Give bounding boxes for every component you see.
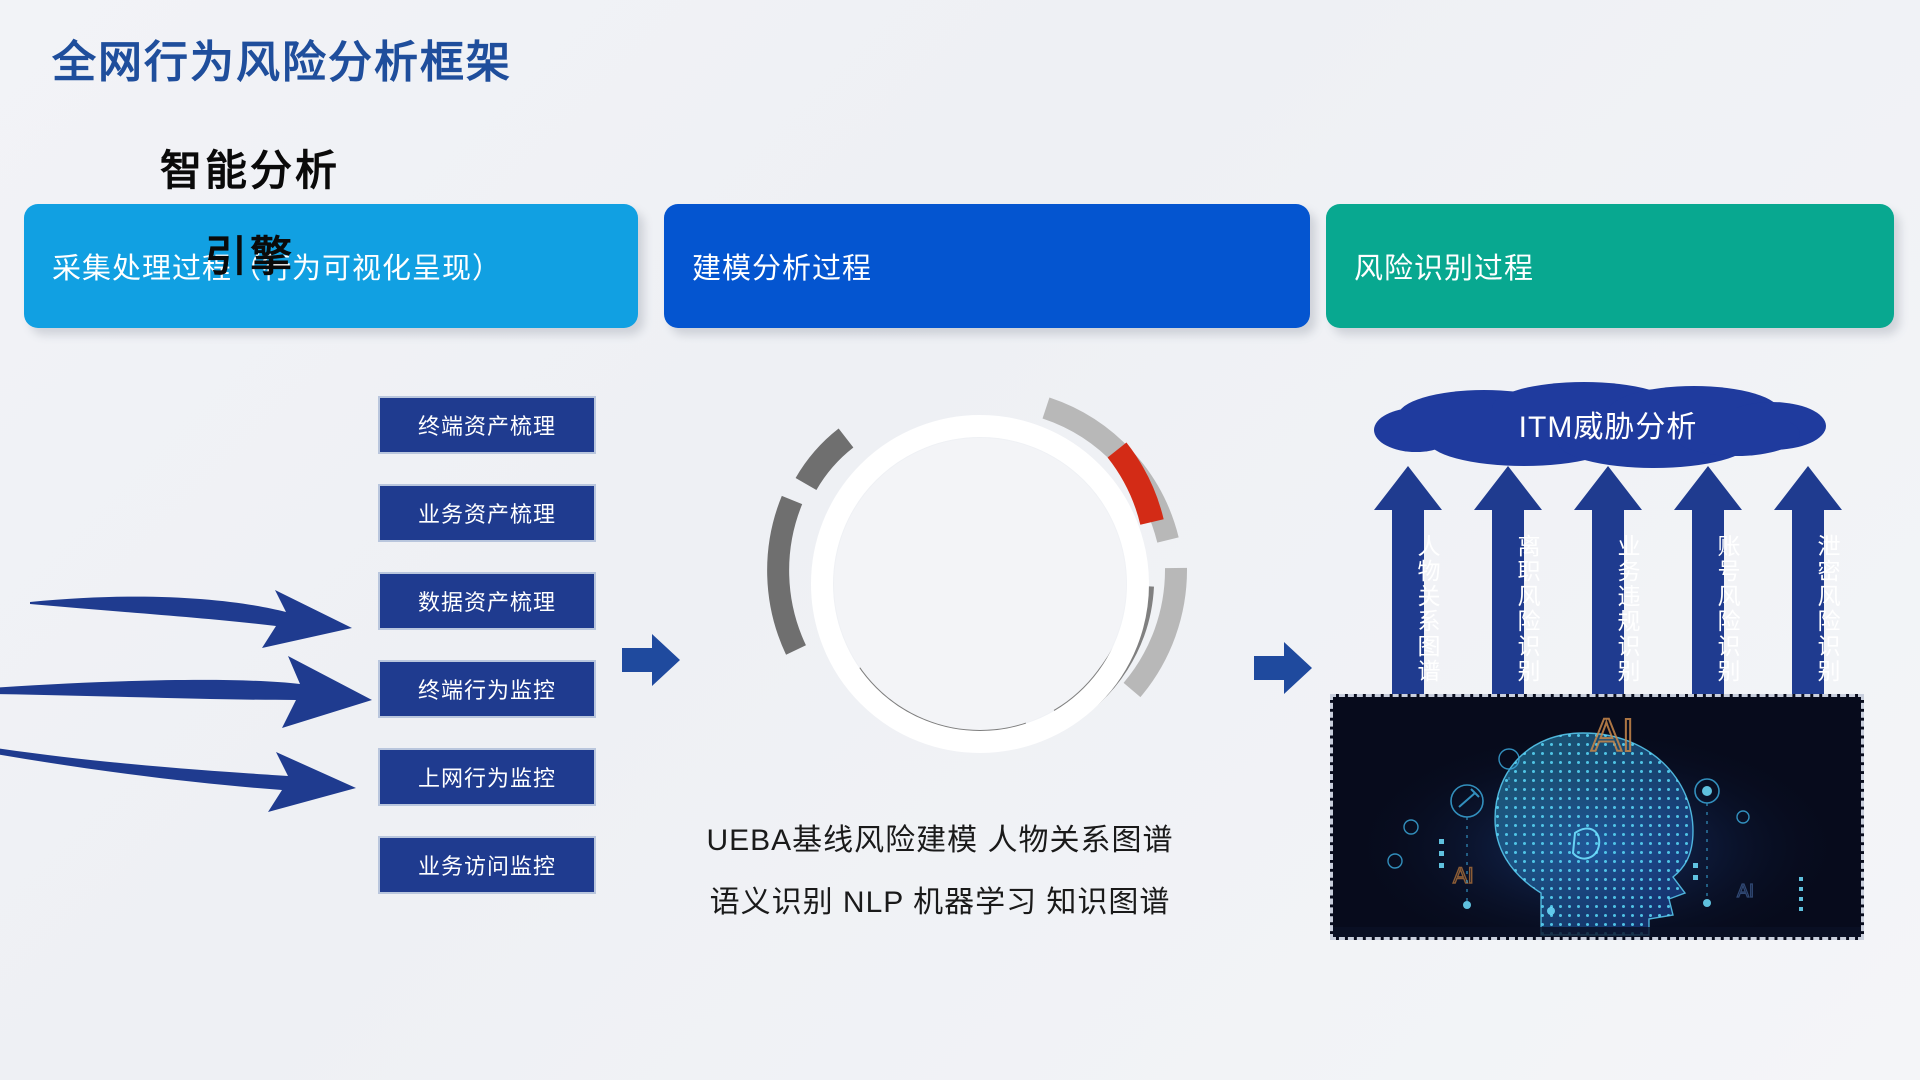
- ai-illustration: AI AI AI: [1330, 694, 1864, 940]
- banner-risk-label: 风险识别过程: [1354, 245, 1534, 287]
- inbound-arrow-3: [0, 748, 356, 812]
- banner-model[interactable]: 建模分析过程: [664, 204, 1310, 328]
- banner-risk[interactable]: 风险识别过程: [1326, 204, 1894, 328]
- ring-inner-fill: [834, 438, 1126, 730]
- source-box-terminal-behavior[interactable]: 终端行为监控: [378, 660, 596, 718]
- collect-to-model-arrow: [620, 632, 682, 688]
- slide-canvas: 全网行为风险分析框架 采集处理过程（行为可视化呈现） 建模分析过程 风险识别过程…: [0, 0, 1920, 1080]
- banner-model-label: 建模分析过程: [692, 245, 872, 287]
- source-box-web-behavior[interactable]: 上网行为监控: [378, 748, 596, 806]
- banner-collect[interactable]: 采集处理过程（行为可视化呈现）: [24, 204, 638, 328]
- itm-cloud[interactable]: ITM威胁分析: [1374, 378, 1826, 470]
- source-box-business-access[interactable]: 业务访问监控: [378, 836, 596, 894]
- engine-caption: UEBA基线风险建模 人物关系图谱 语义识别 NLP 机器学习 知识图谱: [630, 810, 1250, 934]
- engine-label-line1: 智能分析: [0, 128, 500, 214]
- source-box-label: 业务访问监控: [418, 849, 556, 881]
- risk-arrow-person-relation[interactable]: 人物关系图谱: [1372, 466, 1444, 706]
- model-to-risk-arrow: [1252, 640, 1314, 696]
- engine-caption-line2: 语义识别 NLP 机器学习 知识图谱: [630, 872, 1250, 934]
- analysis-engine-graphic: [728, 372, 1228, 792]
- svg-text:AI: AI: [1737, 881, 1754, 901]
- ai-head-graphic: AI AI AI: [1333, 697, 1861, 937]
- source-box-label: 终端资产梳理: [418, 409, 556, 441]
- source-box-terminal-asset[interactable]: 终端资产梳理: [378, 396, 596, 454]
- svg-text:AI: AI: [1591, 709, 1634, 761]
- ring-arc-darkgray-upperleft: [806, 438, 846, 484]
- risk-arrow-leak[interactable]: 泄密风险识别: [1772, 466, 1844, 706]
- banner-collect-label: 采集处理过程（行为可视化呈现）: [52, 245, 502, 287]
- risk-arrow-business-violation[interactable]: 业务违规识别: [1572, 466, 1644, 706]
- inbound-arrow-1: [30, 590, 352, 648]
- inbound-arrow-2: [0, 656, 372, 728]
- page-title: 全网行为风险分析框架: [52, 26, 512, 90]
- source-box-label: 数据资产梳理: [418, 585, 556, 617]
- source-box-business-asset[interactable]: 业务资产梳理: [378, 484, 596, 542]
- svg-text:AI: AI: [1453, 863, 1474, 888]
- arrow-up-icon: [1772, 466, 1844, 706]
- source-box-label: 业务资产梳理: [418, 497, 556, 529]
- ring-arc-darkgray-left: [778, 500, 796, 650]
- arrow-up-icon: [1672, 466, 1744, 706]
- source-box-label: 终端行为监控: [418, 673, 556, 705]
- cloud-shape: [1374, 378, 1826, 470]
- risk-arrow-resignation[interactable]: 离职风险识别: [1472, 466, 1544, 706]
- risk-arrow-account[interactable]: 账号风险识别: [1672, 466, 1744, 706]
- source-box-label: 上网行为监控: [418, 761, 556, 793]
- arrow-up-icon: [1472, 466, 1544, 706]
- source-box-data-asset[interactable]: 数据资产梳理: [378, 572, 596, 630]
- arrow-up-icon: [1572, 466, 1644, 706]
- arrow-up-icon: [1372, 466, 1444, 706]
- engine-caption-line1: UEBA基线风险建模 人物关系图谱: [630, 810, 1250, 872]
- inbound-arrows-group: [0, 560, 400, 820]
